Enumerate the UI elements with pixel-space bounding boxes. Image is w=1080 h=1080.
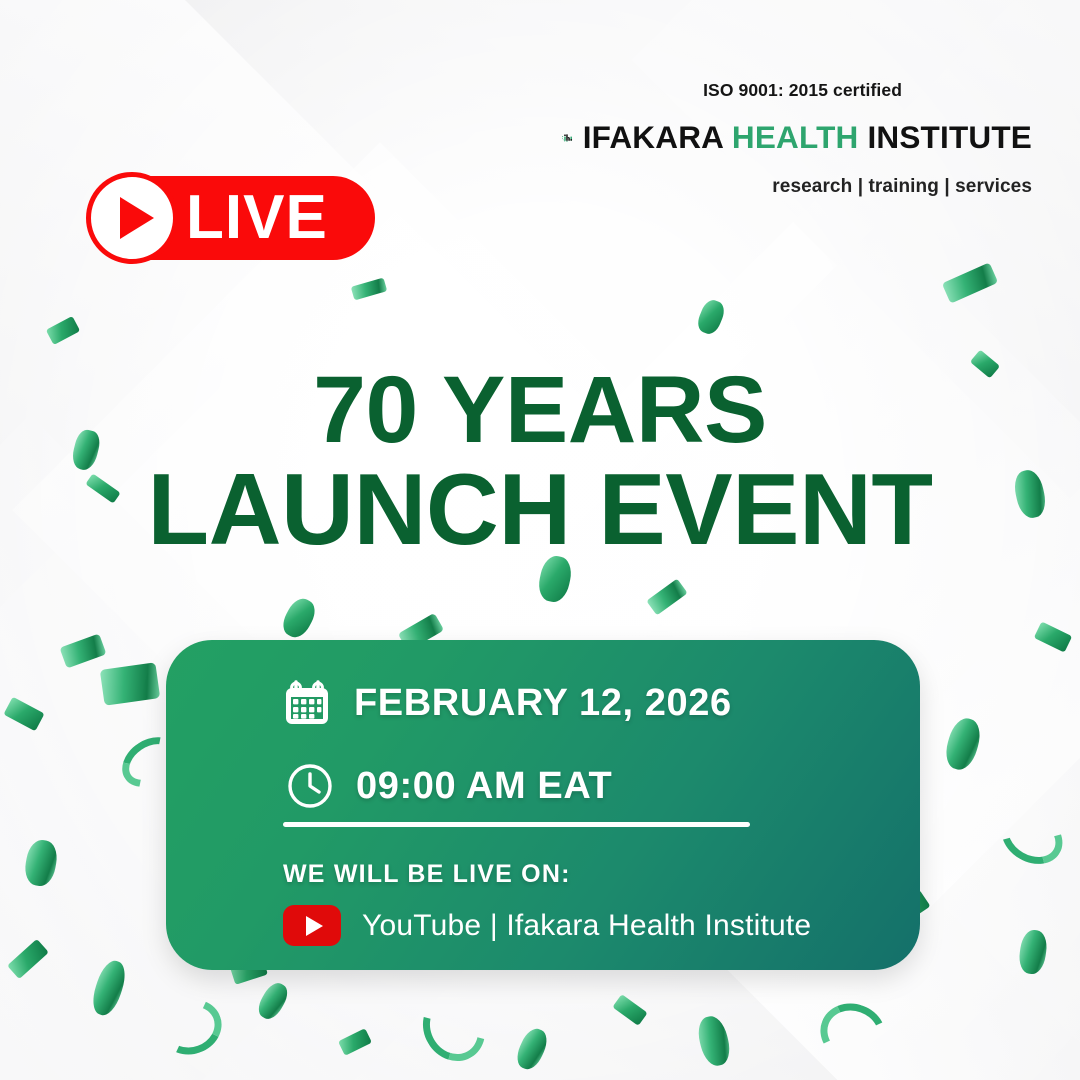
wordmark-institute: INSTITUTE — [859, 119, 1033, 155]
event-poster: LIVE ISO 9001: 2015 certified IFAKARA HE… — [0, 0, 1080, 1080]
event-details-card: FEBRUARY 12, 2026 09:00 AM EAT WE WILL B… — [166, 640, 920, 970]
headline-line-2: LAUNCH EVENT — [0, 459, 1080, 562]
live-badge[interactable]: LIVE — [90, 176, 375, 260]
calendar-icon — [282, 678, 332, 728]
headline-line-1: 70 YEARS — [0, 362, 1080, 459]
youtube-icon[interactable] — [283, 905, 341, 946]
wordmark-health: HEALTH — [732, 119, 859, 155]
logo-tagline: research | training | services — [562, 176, 1032, 198]
logo-row: IFAKARA HEALTH INSTITUTE — [562, 107, 1032, 169]
institute-logo: ISO 9001: 2015 certified IFAKARA HEALTH … — [562, 80, 1032, 198]
card-divider — [283, 822, 750, 827]
page-title: 70 YEARS LAUNCH EVENT — [0, 362, 1080, 562]
wordmark-ifakara: IFAKARA — [583, 119, 732, 155]
event-time-row: 09:00 AM EAT — [286, 762, 612, 810]
youtube-channel-label: YouTube | Ifakara Health Institute — [362, 909, 811, 943]
youtube-channel-row[interactable]: YouTube | Ifakara Health Institute — [283, 905, 811, 946]
event-date: FEBRUARY 12, 2026 — [354, 682, 732, 725]
live-on-label: WE WILL BE LIVE ON: — [283, 860, 571, 889]
event-date-row: FEBRUARY 12, 2026 — [282, 678, 732, 728]
logo-wordmark: IFAKARA HEALTH INSTITUTE — [583, 122, 1032, 154]
clock-icon — [286, 762, 334, 810]
live-badge-label: LIVE — [186, 187, 328, 249]
ihi-logo-mark-icon — [562, 107, 573, 169]
event-time: 09:00 AM EAT — [356, 765, 612, 808]
play-icon — [86, 172, 178, 264]
iso-certification-label: ISO 9001: 2015 certified — [562, 80, 902, 101]
